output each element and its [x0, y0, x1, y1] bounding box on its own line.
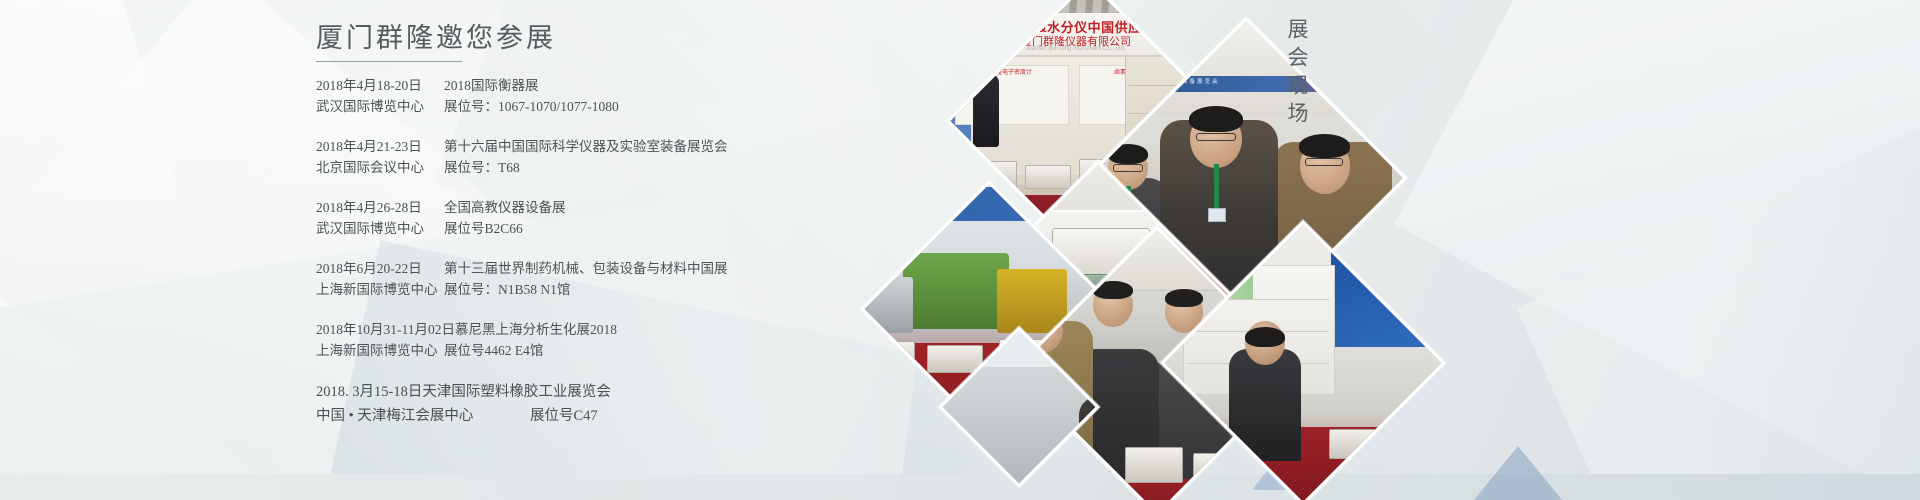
- background-polygon-7: [1517, 97, 1920, 500]
- event-date: 2018年4月26-28日: [316, 197, 444, 218]
- event-date: 2018年6月20-22日: [316, 258, 444, 279]
- event-item-1[interactable]: 2018年4月18-20日2018国际衡器展 武汉国际博览中心展位号：1067-…: [316, 75, 1016, 117]
- collage-caption: 展会现场: [1282, 18, 1312, 130]
- bottom-band: [0, 474, 1920, 500]
- event-line-venue-booth: 中国 • 天津梅江会展中心展位号C47: [316, 404, 1016, 428]
- table-instrument-2: [1329, 429, 1383, 459]
- event-line-venue-booth: 武汉国际博览中心展位号B2C66: [316, 218, 1016, 239]
- demo-instrument-1: [1125, 447, 1183, 483]
- event-line-venue-booth: 武汉国际博览中心展位号：1067-1070/1077-1080: [316, 96, 1016, 117]
- event-list-panel: 厦门群隆邀您参展 2018年4月18-20日2018国际衡器展 武汉国际博览中心…: [316, 22, 1016, 447]
- event-venue: 上海新国际博览中心: [316, 279, 444, 300]
- event-item-6[interactable]: 2018. 3月15-18日天津国际塑料橡胶工业展览会 中国 • 天津梅江会展中…: [316, 380, 1016, 428]
- page-title: 厦门群隆邀您参展: [316, 22, 1016, 56]
- title-underline: [316, 61, 462, 62]
- event-booth: 展位号4462 E4馆: [444, 340, 543, 361]
- visitor-2-badge: [1208, 208, 1226, 222]
- visitor-2-hair: [1189, 106, 1243, 132]
- exhibition-banner: 厦门群隆邀您参展 2018年4月18-20日2018国际衡器展 武汉国际博览中心…: [0, 0, 1920, 500]
- event-date: 2018年4月21-23日: [316, 136, 444, 157]
- yellow-machine: [997, 269, 1067, 333]
- event-venue: 北京国际会议中心: [316, 157, 444, 178]
- event-venue: 中国 • 天津梅江会展中心: [316, 404, 530, 428]
- event-venue: 武汉国际博览中心: [316, 96, 444, 117]
- event-name: 全国高教仪器设备展: [444, 197, 566, 218]
- event-line-venue-booth: 北京国际会议中心展位号：T68: [316, 157, 1016, 178]
- blue-booth-wall: [1331, 227, 1446, 347]
- event-line-date-name: 2018. 3月15-18日天津国际塑料橡胶工业展览会: [316, 380, 1016, 404]
- event-date: 2018年10月31-11月02日: [316, 319, 455, 340]
- decorative-triangle-3: [1474, 446, 1562, 500]
- visitor-2-glasses: [1196, 133, 1236, 141]
- event-booth: 展位号：1067-1070/1077-1080: [444, 96, 619, 117]
- event-item-3[interactable]: 2018年4月26-28日全国高教仪器设备展 武汉国际博览中心展位号B2C66: [316, 197, 1016, 239]
- event-line-date-name: 2018年4月21-23日第十六届中国国际科学仪器及实验室装备展览会: [316, 136, 1016, 157]
- visitor-1-hair: [1108, 144, 1148, 164]
- attendee-3-hair: [1165, 289, 1203, 307]
- table-instrument-3: [1391, 431, 1439, 459]
- staff-hair: [1245, 327, 1285, 347]
- event-booth: 展位号C47: [530, 404, 598, 428]
- event-booth: 展位号B2C66: [444, 218, 523, 239]
- event-booth: 展位号：T68: [444, 157, 520, 178]
- event-name: 2018国际衡器展: [444, 75, 539, 96]
- visitor-3-glasses: [1305, 158, 1343, 166]
- instrument-2: [1025, 165, 1071, 189]
- event-date: 2018. 3月15-18日天津国际塑料橡胶工业展览会: [316, 380, 611, 404]
- event-line-date-name: 2018年4月26-28日全国高教仪器设备展: [316, 197, 1016, 218]
- demo-instrument-2: [1193, 453, 1243, 483]
- booth-logo-text: SmaRT: [1353, 251, 1386, 261]
- event-item-2[interactable]: 2018年4月21-23日第十六届中国国际科学仪器及实验室装备展览会 北京国际会…: [316, 136, 1016, 178]
- visitor-1-glasses: [1113, 164, 1143, 172]
- staff-body: [1229, 349, 1301, 461]
- attendee-2-hair: [1093, 281, 1133, 299]
- green-machine: [903, 253, 1009, 329]
- event-name: 第十三届世界制药机械、包装设备与材料中国展: [444, 258, 728, 279]
- visitor-3-hair: [1299, 134, 1350, 158]
- event-venue: 武汉国际博览中心: [316, 218, 444, 239]
- event-venue: 上海新国际博览中心: [316, 340, 444, 361]
- event-date: 2018年4月18-20日: [316, 75, 444, 96]
- background-polygon-6: [1394, 0, 1920, 500]
- visitor-2-lanyard: [1214, 164, 1219, 210]
- event-name: 第十六届中国国际科学仪器及实验室装备展览会: [444, 136, 728, 157]
- photo-collage: 密度计&水分仪中国供应商 厦门群隆仪器有限公司 Xiamen qun long …: [1010, 0, 1430, 500]
- event-booth: 展位号：N1B58 N1馆: [444, 279, 570, 300]
- event-line-date-name: 2018年4月18-20日2018国际衡器展: [316, 75, 1016, 96]
- event-name: 慕尼黑上海分析生化展2018: [455, 319, 617, 340]
